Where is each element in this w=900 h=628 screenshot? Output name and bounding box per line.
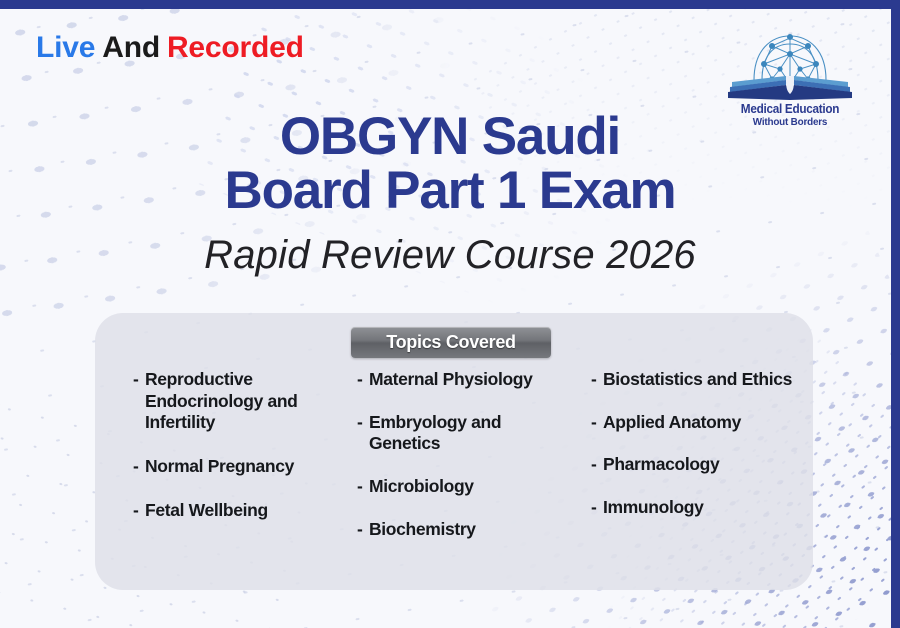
promo-poster: LiveAndRecorded [0, 0, 900, 628]
topics-banner-label: Topics Covered [386, 332, 516, 353]
topic-item: Applied Anatomy [591, 412, 807, 434]
kicker-live-text: Live [36, 31, 95, 64]
topic-item: Normal Pregnancy [133, 456, 333, 478]
topics-columns: Reproductive Endocrinology and Infertili… [95, 369, 813, 561]
topic-item: Microbiology [357, 476, 567, 498]
topics-covered-banner: Topics Covered [351, 327, 551, 358]
topics-card: Topics Covered Reproductive Endocrinolog… [95, 313, 813, 590]
page-subtitle: Rapid Review Course 2026 [0, 233, 900, 278]
topic-item: Pharmacology [591, 454, 807, 476]
topic-item: Maternal Physiology [357, 369, 567, 391]
title-line-1: OBGYN Saudi [280, 107, 620, 166]
topic-item: Biochemistry [357, 519, 567, 541]
format-kicker: LiveAndRecorded [36, 31, 304, 65]
right-accent-bar [891, 0, 900, 628]
title-line-2: Board Part 1 Exam [0, 164, 900, 218]
topic-item: Fetal Wellbeing [133, 500, 333, 522]
topics-column-3: Biostatistics and Ethics Applied Anatomy… [573, 369, 813, 561]
topic-item: Immunology [591, 497, 807, 519]
kicker-recorded-text: Recorded [167, 31, 304, 64]
topic-item: Embryology and Genetics [357, 412, 567, 455]
kicker-and-text: And [102, 31, 160, 64]
topic-item: Reproductive Endocrinology and Infertili… [133, 369, 333, 434]
open-book-shape [728, 76, 852, 100]
topic-item: Biostatistics and Ethics [591, 369, 807, 391]
top-accent-bar [0, 0, 900, 9]
topics-column-2: Maternal Physiology Embryology and Genet… [341, 369, 573, 561]
page-title: OBGYN Saudi Board Part 1 Exam [0, 110, 900, 218]
brain-network-book-icon [724, 24, 856, 102]
topics-column-1: Reproductive Endocrinology and Infertili… [95, 369, 341, 561]
